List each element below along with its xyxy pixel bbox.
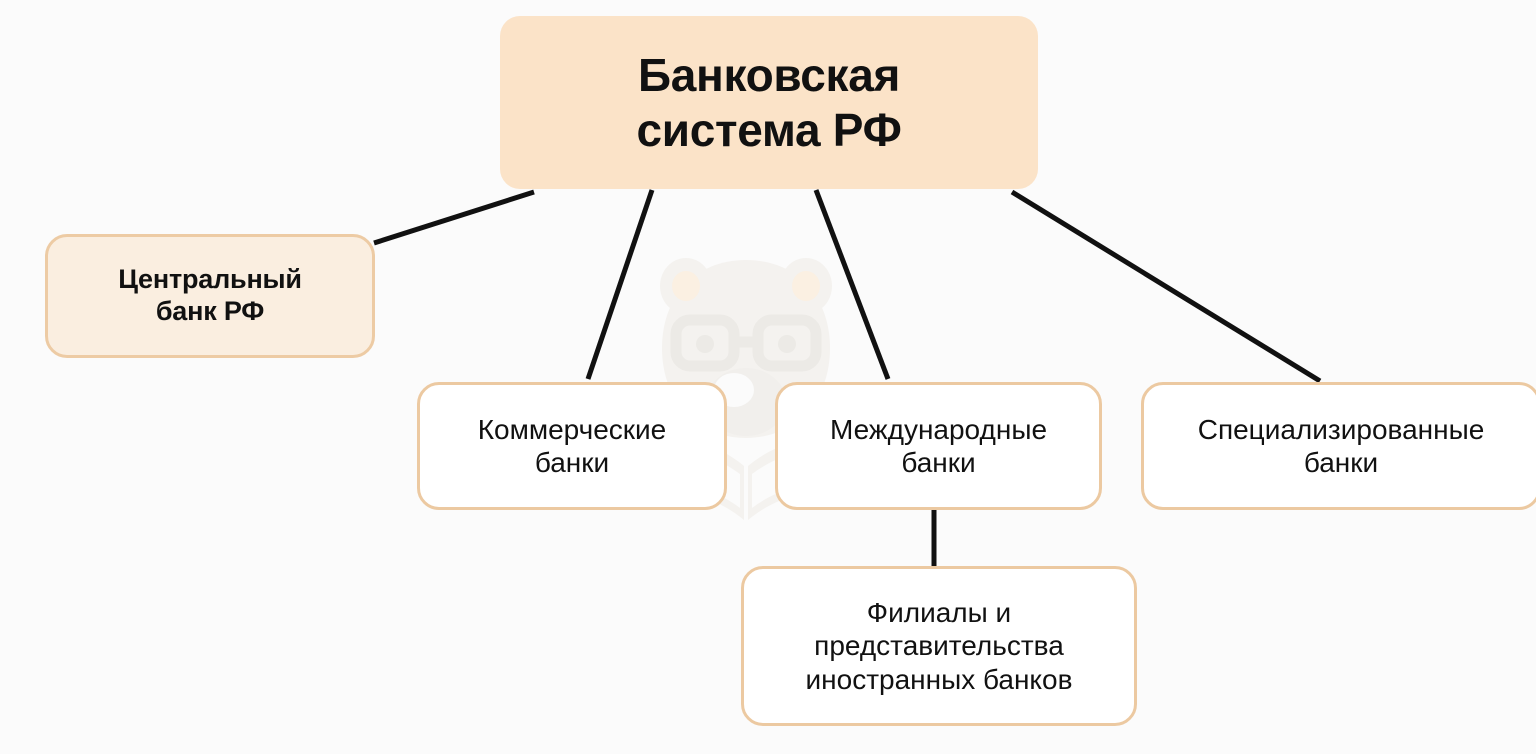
- connector-root-to-commercial-banks: [588, 190, 652, 379]
- node-international-banks[interactable]: Международные банки: [775, 382, 1102, 510]
- connector-root-to-central-bank: [374, 192, 534, 243]
- node-commercial-banks[interactable]: Коммерческие банки: [417, 382, 727, 510]
- diagram-canvas: Банковская система РФ Центральный банк Р…: [0, 0, 1536, 754]
- connector-root-to-international-banks: [816, 190, 888, 379]
- node-specialized-banks[interactable]: Специализированные банки: [1141, 382, 1536, 510]
- node-foreign-bank-branches[interactable]: Филиалы и представительства иностранных …: [741, 566, 1137, 726]
- node-banking-system-root[interactable]: Банковская система РФ: [500, 16, 1038, 189]
- connector-root-to-specialized-banks: [1012, 192, 1320, 381]
- node-central-bank[interactable]: Центральный банк РФ: [45, 234, 375, 358]
